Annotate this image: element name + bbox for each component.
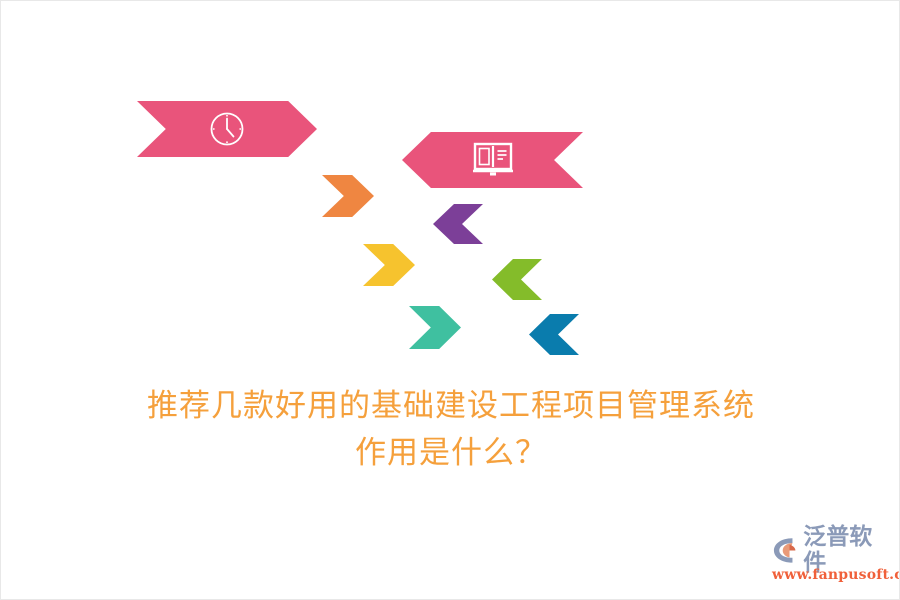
brand-url: www.fanpusoft.com	[772, 567, 900, 583]
poster-canvas: 推荐几款好用的基础建设工程项目管理系统 作用是什么？ 泛普软件 www.fanp…	[0, 0, 900, 600]
page-title: 推荐几款好用的基础建设工程项目管理系统 作用是什么？	[1, 383, 900, 477]
clock-icon	[207, 109, 247, 149]
chevron-teal	[409, 306, 461, 349]
chevron-green	[492, 259, 542, 300]
chevron-yellow	[363, 244, 415, 286]
chevron-blue	[529, 314, 579, 355]
chevron-purple	[433, 204, 483, 244]
book-banner	[402, 132, 583, 188]
page-title-line-2: 作用是什么？	[1, 430, 900, 477]
clock-banner	[137, 101, 317, 157]
fanpu-swoosh-logo-icon	[771, 535, 800, 565]
chevron-orange	[322, 175, 374, 217]
page-title-line-1: 推荐几款好用的基础建设工程项目管理系统	[1, 383, 900, 430]
brand-watermark: 泛普软件 www.fanpusoft.com	[771, 534, 893, 586]
brand-lockup: 泛普软件	[771, 534, 893, 566]
open-book-icon	[471, 140, 515, 180]
